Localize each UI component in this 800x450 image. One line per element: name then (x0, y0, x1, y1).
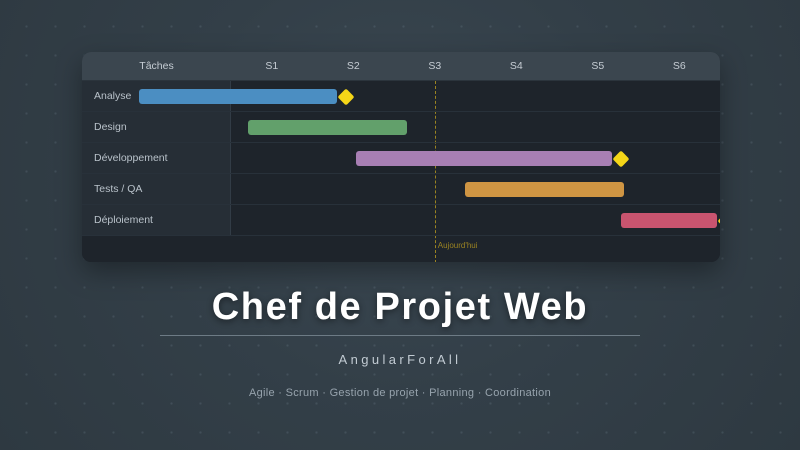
gantt-row-track (231, 174, 720, 204)
task-name: Design (94, 112, 127, 142)
column-header-tasks: Tâches (82, 52, 231, 80)
title-divider (160, 335, 640, 336)
gantt-header-row: Tâches S1S2S3S4S5S6 (82, 52, 720, 81)
gantt-row-track (231, 143, 720, 173)
milestone-diamond-icon[interactable] (612, 150, 629, 167)
gantt-chart-card: Tâches S1S2S3S4S5S6 Aujourd'hui AnalyseD… (82, 52, 720, 262)
gantt-bar[interactable] (465, 182, 625, 197)
gantt-row[interactable]: Déploiement (82, 205, 720, 236)
column-header-week-s2: S2 (323, 52, 383, 80)
gantt-bar[interactable] (248, 120, 408, 135)
column-header-week-s3: S3 (405, 52, 465, 80)
today-marker-label: Aujourd'hui (438, 241, 478, 250)
task-name: Analyse (94, 81, 131, 111)
column-header-week-s5: S5 (568, 52, 628, 80)
task-label-cell: Développement (82, 143, 231, 173)
task-name: Tests / QA (94, 174, 142, 204)
gantt-row[interactable]: Tests / QA (82, 174, 720, 205)
task-label-cell: Tests / QA (82, 174, 231, 204)
gantt-bar[interactable] (139, 89, 337, 104)
milestone-diamond-icon[interactable] (338, 88, 355, 105)
task-name: Développement (94, 143, 168, 173)
gantt-bar[interactable] (621, 213, 717, 228)
task-name: Déploiement (94, 205, 153, 235)
column-header-week-s6: S6 (649, 52, 709, 80)
gantt-row-track (231, 112, 720, 142)
gantt-bar[interactable] (356, 151, 611, 166)
gantt-row[interactable]: Design (82, 112, 720, 143)
slide-canvas: Tâches S1S2S3S4S5S6 Aujourd'hui AnalyseD… (0, 0, 800, 450)
gantt-row[interactable]: Analyse (82, 81, 720, 112)
gantt-grid-body: Aujourd'hui AnalyseDesignDéveloppementTe… (82, 81, 720, 262)
task-label-cell: Design (82, 112, 231, 142)
gantt-row-track (231, 205, 720, 235)
page-title: Chef de Projet Web (0, 286, 800, 329)
gantt-row-track (231, 81, 720, 111)
column-header-week-s1: S1 (242, 52, 302, 80)
milestone-diamond-icon[interactable] (717, 212, 720, 229)
gantt-row[interactable]: Développement (82, 143, 720, 174)
brand-name: AngularForAll (0, 352, 800, 367)
keyword-list: Agile · Scrum · Gestion de projet · Plan… (0, 387, 800, 399)
task-label-cell: Déploiement (82, 205, 231, 235)
column-header-week-s4: S4 (486, 52, 546, 80)
